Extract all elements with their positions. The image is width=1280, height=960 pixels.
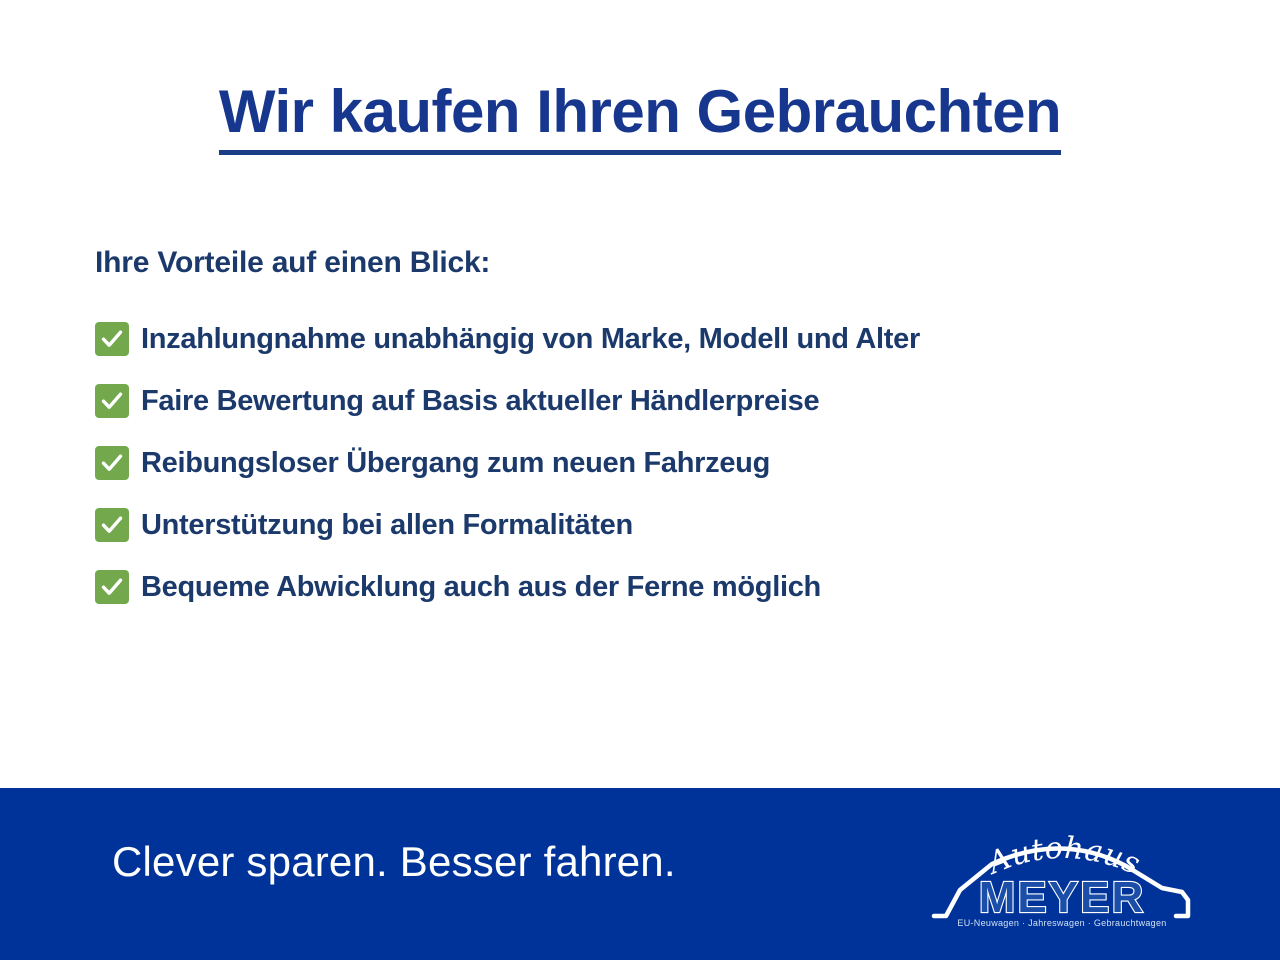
- footer-bar: Clever sparen. Besser fahren. Autohaus M…: [0, 788, 1280, 960]
- list-item: Bequeme Abwicklung auch aus der Ferne mö…: [95, 556, 1215, 618]
- page-title: Wir kaufen Ihren Gebrauchten: [219, 82, 1061, 155]
- logo-subline: EU-Neuwagen · Jahreswagen · Gebrauchtwag…: [957, 918, 1166, 928]
- list-item: Inzahlungnahme unabhängig von Marke, Mod…: [95, 308, 1215, 370]
- list-item-label: Reibungsloser Übergang zum neuen Fahrzeu…: [141, 449, 770, 478]
- list-item: Unterstützung bei allen Formalitäten: [95, 494, 1215, 556]
- footer-slogan: Clever sparen. Besser fahren.: [112, 838, 676, 886]
- list-item-label: Bequeme Abwicklung auch aus der Ferne mö…: [141, 573, 821, 602]
- dealer-logo: Autohaus MEYER EU-Neuwagen · Jahreswagen…: [930, 804, 1195, 934]
- benefits-list: Inzahlungnahme unabhängig von Marke, Mod…: [95, 308, 1215, 618]
- list-item-label: Faire Bewertung auf Basis aktueller Händ…: [141, 387, 819, 416]
- check-square-icon: [95, 384, 129, 418]
- list-item-label: Unterstützung bei allen Formalitäten: [141, 511, 633, 540]
- list-item: Faire Bewertung auf Basis aktueller Händ…: [95, 370, 1215, 432]
- headline-container: Wir kaufen Ihren Gebrauchten: [0, 82, 1280, 155]
- logo-wordmark: MEYER: [979, 873, 1145, 922]
- benefits-subheading: Ihre Vorteile auf einen Blick:: [95, 246, 490, 280]
- list-item: Reibungsloser Übergang zum neuen Fahrzeu…: [95, 432, 1215, 494]
- slide-root: Wir kaufen Ihren Gebrauchten Ihre Vortei…: [0, 0, 1280, 960]
- check-square-icon: [95, 570, 129, 604]
- check-square-icon: [95, 446, 129, 480]
- check-square-icon: [95, 322, 129, 356]
- list-item-label: Inzahlungnahme unabhängig von Marke, Mod…: [141, 325, 920, 354]
- check-square-icon: [95, 508, 129, 542]
